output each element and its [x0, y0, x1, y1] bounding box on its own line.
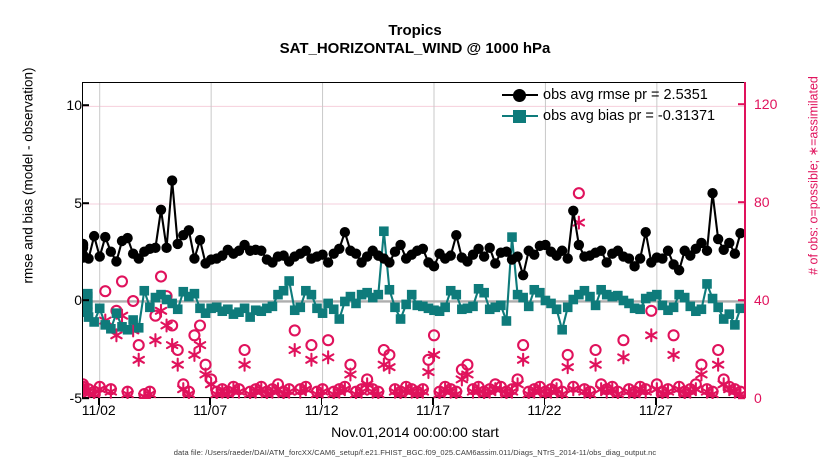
right-axis-tick-mark [738, 299, 745, 301]
right-axis-spine [744, 82, 746, 398]
left-axis-tick-label: 5 [42, 195, 82, 211]
plot-area [82, 82, 745, 398]
x-axis-tick-mark [432, 398, 434, 405]
right-axis-tick-label: 80 [754, 194, 802, 210]
right-axis-tick-label: 0 [754, 390, 802, 406]
left-axis-tick-mark [82, 397, 89, 399]
left-axis-tick-mark [82, 105, 89, 107]
title-region: Tropics [0, 22, 830, 40]
x-axis-tick-mark [321, 398, 323, 405]
x-axis-tick-mark [98, 398, 100, 405]
figure-root: Tropics SAT_HORIZONTAL_WIND @ 1000 hPa 1… [0, 0, 830, 470]
chart-legend: obs avg rmse pr = 2.5351 obs avg bias pr… [500, 82, 715, 126]
legend-item-rmse: obs avg rmse pr = 2.5351 [500, 84, 715, 105]
legend-label-rmse: obs avg rmse pr = 2.5351 [543, 87, 708, 103]
right-axis-tick-label: 40 [754, 292, 802, 308]
right-axis-label: # of obs: o=possible; ∗=assimilated [806, 21, 821, 331]
left-axis-label: rmse and bias (model - observation) [21, 26, 36, 326]
x-axis-tick-mark [209, 398, 211, 405]
left-axis-tick-label: 0 [42, 292, 82, 308]
plot-canvas [83, 83, 746, 399]
right-axis-tick-label: 120 [754, 96, 802, 112]
chart-title: Tropics SAT_HORIZONTAL_WIND @ 1000 hPa [0, 22, 830, 59]
left-axis-tick-label: 10 [42, 97, 82, 113]
x-axis-label: Nov.01,2014 00:00:00 start [0, 424, 830, 440]
right-axis-tick-mark [738, 397, 745, 399]
right-axis-tick-mark [738, 201, 745, 203]
title-variable: SAT_HORIZONTAL_WIND @ 1000 hPa [0, 40, 830, 58]
legend-label-bias: obs avg bias pr = -0.31371 [543, 108, 715, 124]
left-axis-tick-mark [82, 202, 89, 204]
legend-marker-square-icon [500, 108, 540, 124]
x-axis-tick-mark [655, 398, 657, 405]
left-axis-tick-mark [82, 300, 89, 302]
right-axis-tick-mark [738, 103, 745, 105]
data-file-caption: data file: /Users/raeder/DAI/ATM_forcXX/… [0, 448, 830, 457]
x-axis-tick-mark [544, 398, 546, 405]
legend-item-bias: obs avg bias pr = -0.31371 [500, 105, 715, 126]
legend-marker-circle-icon [500, 87, 540, 103]
